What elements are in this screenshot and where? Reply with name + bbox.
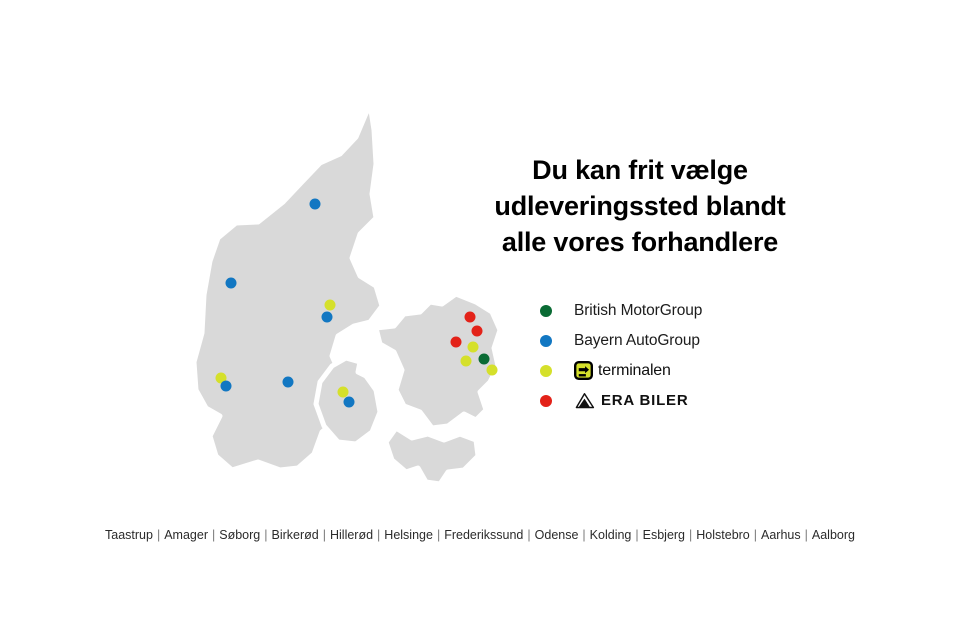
headline: Du kan frit vælge udleveringssted blandt… <box>440 152 840 260</box>
map-dot-frederikssund[interactable] <box>451 337 462 348</box>
city-sep: | <box>524 528 533 542</box>
map-dot-esbjerg-bayern[interactable] <box>221 381 232 392</box>
terminalen-logo-lockup: terminalen <box>574 361 671 380</box>
city-odense: Odense <box>534 528 580 542</box>
city-sep: | <box>320 528 329 542</box>
legend-swatch-bayern-autogroup <box>540 335 552 347</box>
city-sep: | <box>374 528 383 542</box>
legend-swatch-era-biler <box>540 395 552 407</box>
city-esbjerg: Esbjerg <box>642 528 686 542</box>
headline-line-3: alle vores forhandlere <box>440 224 840 260</box>
map-dot-birkerod[interactable] <box>468 342 479 353</box>
city-sep: | <box>434 528 443 542</box>
headline-line-2: udleveringssted blandt <box>440 188 840 224</box>
legend-label-bayern-autogroup: Bayern AutoGroup <box>574 332 700 350</box>
legend-label-british-motorgroup: British MotorGroup <box>574 302 702 320</box>
city-sep: | <box>686 528 695 542</box>
city-sep: | <box>802 528 811 542</box>
city-helsinge: Helsinge <box>383 528 434 542</box>
legend-item-era-biler[interactable]: ERA BILER <box>540 388 820 413</box>
terminalen-logo-icon <box>574 361 593 380</box>
map-dot-holstebro[interactable] <box>226 278 237 289</box>
city-holstebro: Holstebro <box>695 528 751 542</box>
city-sep: | <box>579 528 588 542</box>
city-hillerod: Hillerød <box>329 528 374 542</box>
city-taastrup: Taastrup <box>104 528 154 542</box>
city-sep: | <box>261 528 270 542</box>
legend-item-bayern-autogroup[interactable]: Bayern AutoGroup <box>540 328 820 353</box>
city-amager: Amager <box>163 528 209 542</box>
map-dot-helsinge[interactable] <box>465 312 476 323</box>
legend-swatch-terminalen <box>540 365 552 377</box>
headline-line-1: Du kan frit vælge <box>440 152 840 188</box>
map-dot-odense-bayern[interactable] <box>344 397 355 408</box>
era-biler-logo-text: ERA BILER <box>601 392 688 409</box>
city-sep: | <box>751 528 760 542</box>
map-dot-soborg[interactable] <box>479 354 490 365</box>
era-biler-logo-icon <box>574 392 595 410</box>
era-biler-logo-lockup: ERA BILER <box>574 392 688 410</box>
city-kolding: Kolding <box>589 528 633 542</box>
map-dot-aarhus-terminalen[interactable] <box>325 300 336 311</box>
map-dot-aarhus-bayern[interactable] <box>322 312 333 323</box>
legend-swatch-british-motorgroup <box>540 305 552 317</box>
city-sep: | <box>209 528 218 542</box>
city-sep: | <box>154 528 163 542</box>
city-aarhus: Aarhus <box>760 528 802 542</box>
map-dot-amager[interactable] <box>487 365 498 376</box>
city-list: Taastrup|Amager|Søborg|Birkerød|Hillerød… <box>0 528 960 542</box>
legend-item-british-motorgroup[interactable]: British MotorGroup <box>540 298 820 323</box>
map-region-lolland-falster <box>386 428 478 484</box>
city-sep: | <box>632 528 641 542</box>
terminalen-logo-text: terminalen <box>598 362 671 380</box>
city-soborg: Søborg <box>218 528 261 542</box>
city-frederikssund: Frederikssund <box>443 528 524 542</box>
map-dot-taastrup[interactable] <box>461 356 472 367</box>
brand-legend: British MotorGroup Bayern AutoGroup term… <box>540 298 820 418</box>
city-birkerod: Birkerød <box>271 528 320 542</box>
map-dot-kolding[interactable] <box>283 377 294 388</box>
map-dot-aalborg[interactable] <box>310 199 321 210</box>
legend-item-terminalen[interactable]: terminalen <box>540 358 820 383</box>
city-aalborg: Aalborg <box>811 528 856 542</box>
map-dot-hillerod[interactable] <box>472 326 483 337</box>
